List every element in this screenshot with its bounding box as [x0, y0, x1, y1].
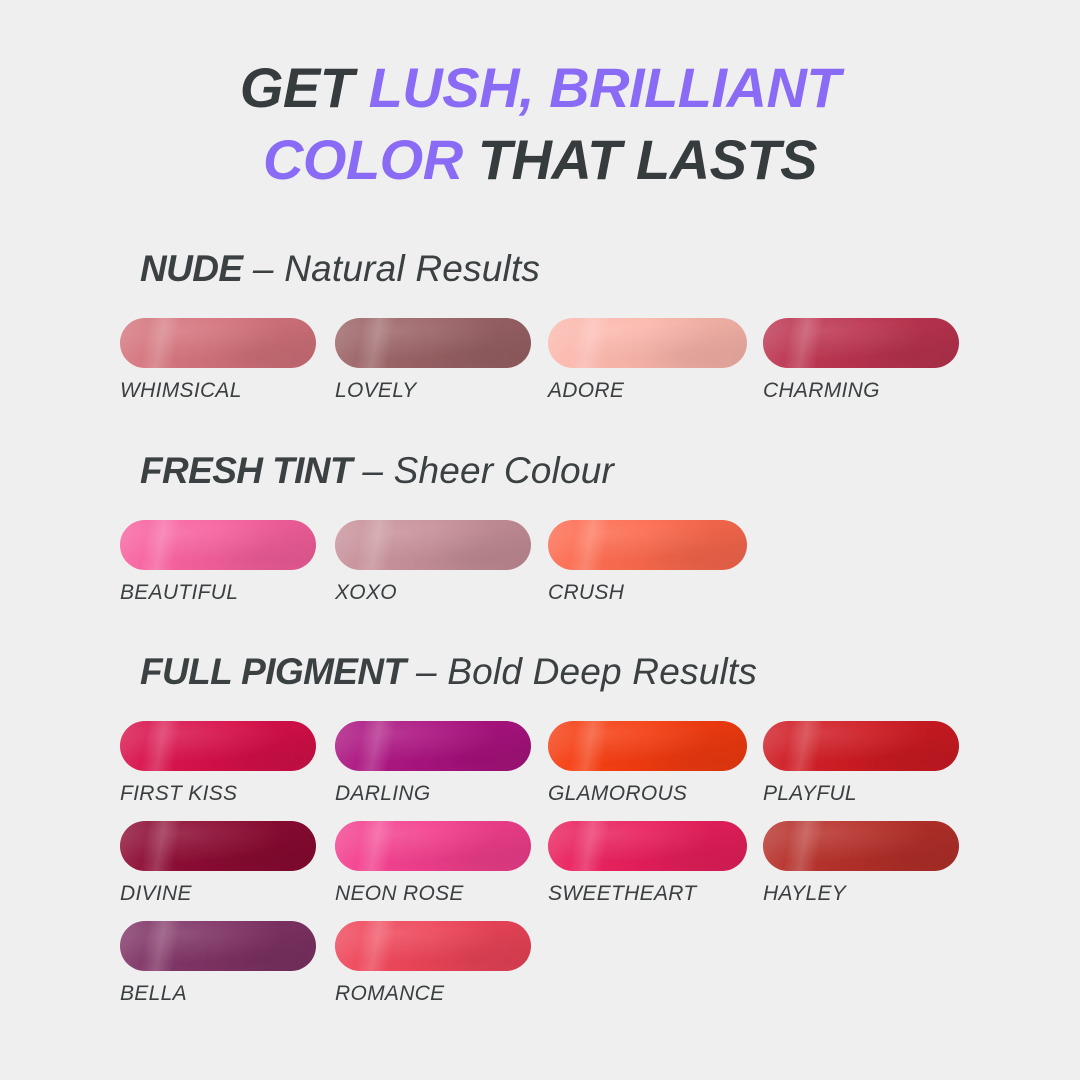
swatch-row: BELLAROMANCE: [0, 921, 1080, 1021]
shade-label: GLAMOROUS: [548, 782, 747, 806]
section-title-subtitle: – Sheer Colour: [352, 450, 614, 491]
shade-label: HAYLEY: [763, 882, 959, 906]
shade-swatch[interactable]: [335, 821, 531, 871]
shade-item[interactable]: BEAUTIFUL: [120, 520, 316, 605]
shade-item[interactable]: NEON ROSE: [335, 821, 531, 906]
section-title: FRESH TINT – Sheer Colour: [140, 450, 614, 492]
lipstick-shade-chart: { "theme": { "background": "#f0efef", "i…: [0, 0, 1080, 1080]
section-title: FULL PIGMENT – Bold Deep Results: [140, 651, 757, 693]
shade-swatch[interactable]: [335, 318, 531, 368]
shade-swatch[interactable]: [548, 520, 747, 570]
shade-label: FIRST KISS: [120, 782, 316, 806]
shade-label: DARLING: [335, 782, 531, 806]
shade-label: WHIMSICAL: [120, 379, 316, 403]
shade-item[interactable]: BELLA: [120, 921, 316, 1006]
shade-label: CHARMING: [763, 379, 959, 403]
swatch-grid: FIRST KISSDARLINGGLAMOROUSPLAYFULDIVINEN…: [0, 721, 1080, 1021]
headline-segment-that-lasts: THAT LASTS: [463, 128, 817, 191]
swatch-grid: BEAUTIFULXOXOCRUSH: [0, 520, 1080, 620]
shade-label: SWEETHEART: [548, 882, 747, 906]
page-title: GET LUSH, BRILLIANT COLOR THAT LASTS: [0, 52, 1080, 195]
shade-label: NEON ROSE: [335, 882, 531, 906]
shade-swatch[interactable]: [120, 821, 316, 871]
headline-segment-color: COLOR: [263, 128, 463, 191]
shade-label: ROMANCE: [335, 982, 531, 1006]
shade-swatch[interactable]: [548, 318, 747, 368]
shade-label: DIVINE: [120, 882, 316, 906]
shade-swatch[interactable]: [120, 921, 316, 971]
shade-item[interactable]: GLAMOROUS: [548, 721, 747, 806]
shade-item[interactable]: CRUSH: [548, 520, 747, 605]
shade-item[interactable]: CHARMING: [763, 318, 959, 403]
headline-line-2: COLOR THAT LASTS: [0, 124, 1080, 196]
shade-label: BEAUTIFUL: [120, 581, 316, 605]
section-title-strong: FRESH TINT: [140, 450, 352, 491]
section-title-strong: NUDE: [140, 248, 242, 289]
headline-segment-get: GET: [240, 56, 369, 119]
shade-item[interactable]: WHIMSICAL: [120, 318, 316, 403]
shade-label: XOXO: [335, 581, 531, 605]
shade-swatch[interactable]: [335, 921, 531, 971]
swatch-row: WHIMSICALLOVELYADORECHARMING: [0, 318, 1080, 418]
shade-label: BELLA: [120, 982, 316, 1006]
swatch-grid: WHIMSICALLOVELYADORECHARMING: [0, 318, 1080, 418]
section-title-subtitle: – Natural Results: [242, 248, 540, 289]
shade-item[interactable]: ADORE: [548, 318, 747, 403]
shade-label: ADORE: [548, 379, 747, 403]
section-title-strong: FULL PIGMENT: [140, 651, 406, 692]
shade-label: CRUSH: [548, 581, 747, 605]
shade-item[interactable]: DARLING: [335, 721, 531, 806]
swatch-row: DIVINENEON ROSESWEETHEARTHAYLEY: [0, 821, 1080, 921]
shade-swatch[interactable]: [548, 821, 747, 871]
shade-swatch[interactable]: [335, 520, 531, 570]
shade-swatch[interactable]: [763, 821, 959, 871]
shade-item[interactable]: HAYLEY: [763, 821, 959, 906]
headline-segment-lush-brilliant: LUSH, BRILLIANT: [369, 56, 841, 119]
shade-label: PLAYFUL: [763, 782, 959, 806]
swatch-row: BEAUTIFULXOXOCRUSH: [0, 520, 1080, 620]
shade-item[interactable]: DIVINE: [120, 821, 316, 906]
shade-label: LOVELY: [335, 379, 531, 403]
shade-swatch[interactable]: [120, 318, 316, 368]
shade-swatch[interactable]: [548, 721, 747, 771]
shade-swatch[interactable]: [335, 721, 531, 771]
shade-item[interactable]: PLAYFUL: [763, 721, 959, 806]
swatch-row: FIRST KISSDARLINGGLAMOROUSPLAYFUL: [0, 721, 1080, 821]
shade-swatch[interactable]: [763, 721, 959, 771]
shade-swatch[interactable]: [120, 520, 316, 570]
shade-item[interactable]: SWEETHEART: [548, 821, 747, 906]
section-title-subtitle: – Bold Deep Results: [406, 651, 758, 692]
shade-swatch[interactable]: [120, 721, 316, 771]
shade-swatch[interactable]: [763, 318, 959, 368]
shade-item[interactable]: FIRST KISS: [120, 721, 316, 806]
shade-item[interactable]: ROMANCE: [335, 921, 531, 1006]
headline-line-1: GET LUSH, BRILLIANT: [0, 52, 1080, 124]
shade-item[interactable]: XOXO: [335, 520, 531, 605]
section-title: NUDE – Natural Results: [140, 248, 540, 290]
shade-item[interactable]: LOVELY: [335, 318, 531, 403]
